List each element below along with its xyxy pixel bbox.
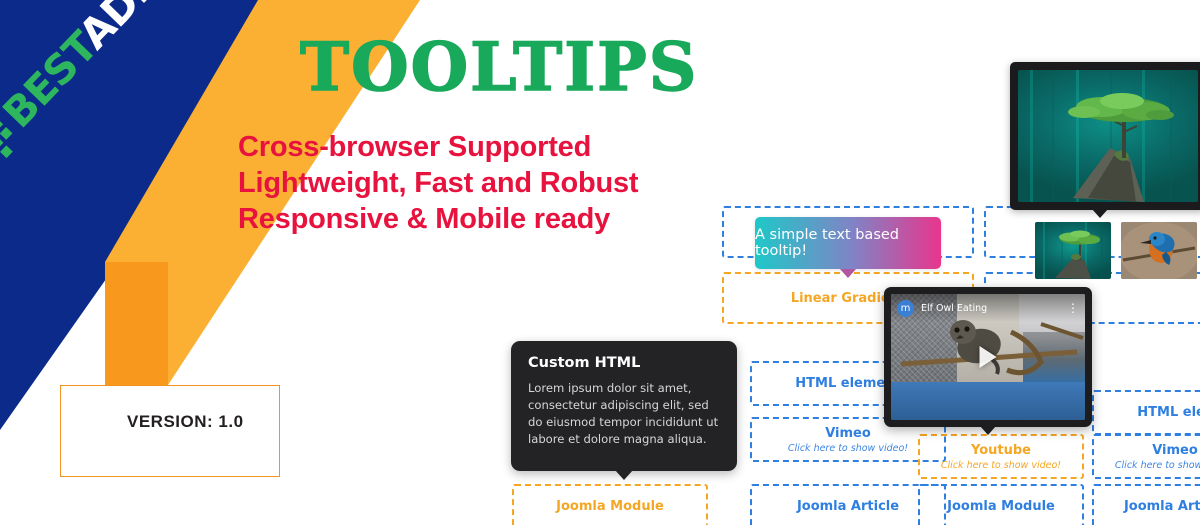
demo-box-label: Joomla Article	[1124, 499, 1200, 514]
demo-box-label: Joomla Module	[556, 499, 664, 514]
channel-avatar: m	[897, 300, 914, 317]
bonsai-image	[1018, 70, 1198, 202]
demo-box-b10[interactable]: YoutubeClick here to show video!	[918, 434, 1084, 479]
subtitle-line-2: Lightweight, Fast and Robust	[238, 166, 638, 202]
image-tooltip	[1010, 62, 1200, 210]
video-frame[interactable]: m Elf Owl Eating ⋮	[891, 294, 1085, 420]
version-label: VERSION: 1.0	[127, 412, 244, 432]
demo-box-sublabel: Click here to show video!	[1115, 460, 1200, 471]
demo-box-b12[interactable]: Joomla Module	[512, 484, 708, 525]
play-button-icon[interactable]	[980, 346, 997, 368]
poster-stage: BESTADDON TOOLTIPS Cross-browser Support…	[0, 0, 1200, 525]
demo-box-sublabel: Click here to show video!	[788, 443, 908, 454]
demo-box-b13[interactable]: Joomla Article	[750, 484, 946, 525]
orange-vertical-band	[105, 262, 168, 385]
demo-box-b14[interactable]: Joomla Module	[918, 484, 1084, 525]
demo-box-label: Youtube	[971, 443, 1031, 458]
demo-box-label: Vimeo	[825, 426, 871, 441]
gradient-tooltip-text: A simple text based tooltip!	[755, 227, 941, 259]
page-title: TOOLTIPS	[300, 34, 698, 100]
kingfisher-thumbnail[interactable]	[1121, 222, 1197, 279]
subtitle-line-1: Cross-browser Supported	[238, 130, 638, 166]
custom-html-tooltip: Custom HTML Lorem ipsum dolor sit amet, …	[511, 341, 737, 471]
demo-box-b11[interactable]: VimeoClick here to show video!	[1092, 434, 1200, 479]
demo-box-label: HTML element	[1137, 405, 1200, 420]
demo-box-label: Joomla Article	[797, 499, 899, 514]
gradient-tooltip: A simple text based tooltip!	[755, 217, 941, 269]
demo-box-b15[interactable]: Joomla Article	[1092, 484, 1200, 525]
video-top-bar: m Elf Owl Eating ⋮	[891, 294, 1085, 322]
demo-box-b7[interactable]: HTML element	[1092, 390, 1200, 435]
bonsai-thumbnail[interactable]	[1035, 222, 1111, 279]
demo-box-label: Joomla Module	[947, 499, 1055, 514]
custom-html-heading: Custom HTML	[528, 355, 720, 371]
subtitle-line-3: Responsive & Mobile ready	[238, 202, 638, 238]
demo-box-sublabel: Click here to show video!	[941, 460, 1061, 471]
video-tooltip: m Elf Owl Eating ⋮	[884, 287, 1092, 427]
thumbnail-row	[1035, 222, 1197, 279]
custom-html-body: Lorem ipsum dolor sit amet, consectetur …	[528, 380, 720, 448]
page-subtitle: Cross-browser Supported Lightweight, Fas…	[238, 130, 638, 238]
demo-box-label: Vimeo	[1152, 443, 1198, 458]
kebab-menu-icon[interactable]: ⋮	[1067, 302, 1079, 314]
video-title: Elf Owl Eating	[921, 303, 987, 314]
